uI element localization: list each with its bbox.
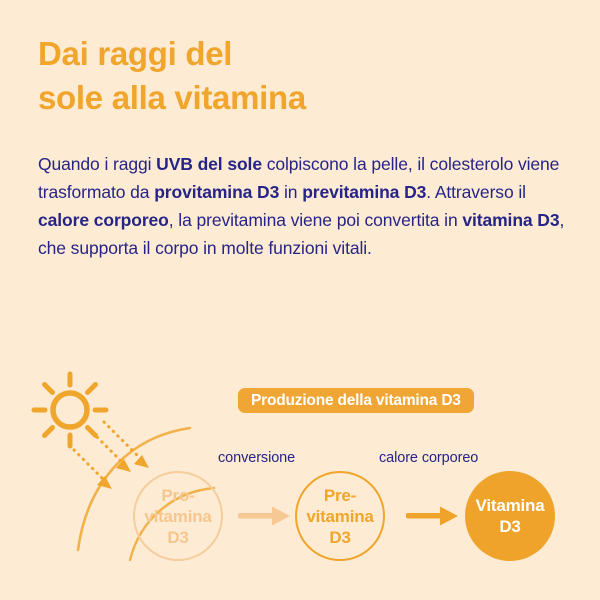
arrow-label-calore-corporeo: calore corporeo xyxy=(379,449,478,467)
node-previtamina-d3: Pre- vitamina D3 xyxy=(295,471,385,561)
node-line-1: Vitamina xyxy=(476,496,545,515)
node-line-1: Pro- xyxy=(161,486,194,505)
infographic-canvas: Dai raggi del sole alla vitamina Quando … xyxy=(0,0,600,600)
body-emphasis: provitamina D3 xyxy=(154,182,279,202)
arrow-right-icon-1 xyxy=(238,507,290,526)
node-provitamina-d3-label: Pro- vitamina D3 xyxy=(144,485,211,548)
page-title-line-2: sole alla vitamina xyxy=(38,76,558,120)
body-text: Quando i raggi xyxy=(38,154,156,174)
sun-icon xyxy=(34,374,106,446)
dotted-uv-rays-icon xyxy=(74,422,141,480)
arrow-right-icon-2 xyxy=(406,507,458,526)
node-line-2: vitamina xyxy=(306,507,373,526)
page-title-line-1: Dai raggi del xyxy=(38,32,558,76)
body-emphasis: UVB del sole xyxy=(156,154,262,174)
body-paragraph: Quando i raggi UVB del sole colpiscono l… xyxy=(38,150,568,262)
body-text: in xyxy=(279,182,302,202)
vitamin-d-production-diagram: Produzione della vitamina D3 conversione… xyxy=(0,360,600,600)
status-badge: Produzione della vitamina D3 xyxy=(238,388,474,413)
node-line-3: D3 xyxy=(167,528,188,547)
node-previtamina-d3-label: Pre- vitamina D3 xyxy=(306,485,373,548)
body-emphasis: calore corporeo xyxy=(38,210,169,230)
body-emphasis: previtamina D3 xyxy=(302,182,426,202)
body-text: . Attraverso il xyxy=(426,182,526,202)
node-line-2: D3 xyxy=(499,517,520,536)
page-title: Dai raggi del sole alla vitamina xyxy=(38,32,558,120)
node-line-3: D3 xyxy=(329,528,350,547)
node-provitamina-d3: Pro- vitamina D3 xyxy=(133,471,223,561)
node-vitamina-d3: Vitamina D3 xyxy=(465,471,555,561)
node-line-1: Pre- xyxy=(324,486,356,505)
body-text: , la previtamina viene poi convertita in xyxy=(169,210,463,230)
node-vitamina-d3-label: Vitamina D3 xyxy=(476,495,545,537)
node-line-2: vitamina xyxy=(144,507,211,526)
arrow-label-conversione: conversione xyxy=(218,449,295,467)
body-emphasis: vitamina D3 xyxy=(462,210,559,230)
